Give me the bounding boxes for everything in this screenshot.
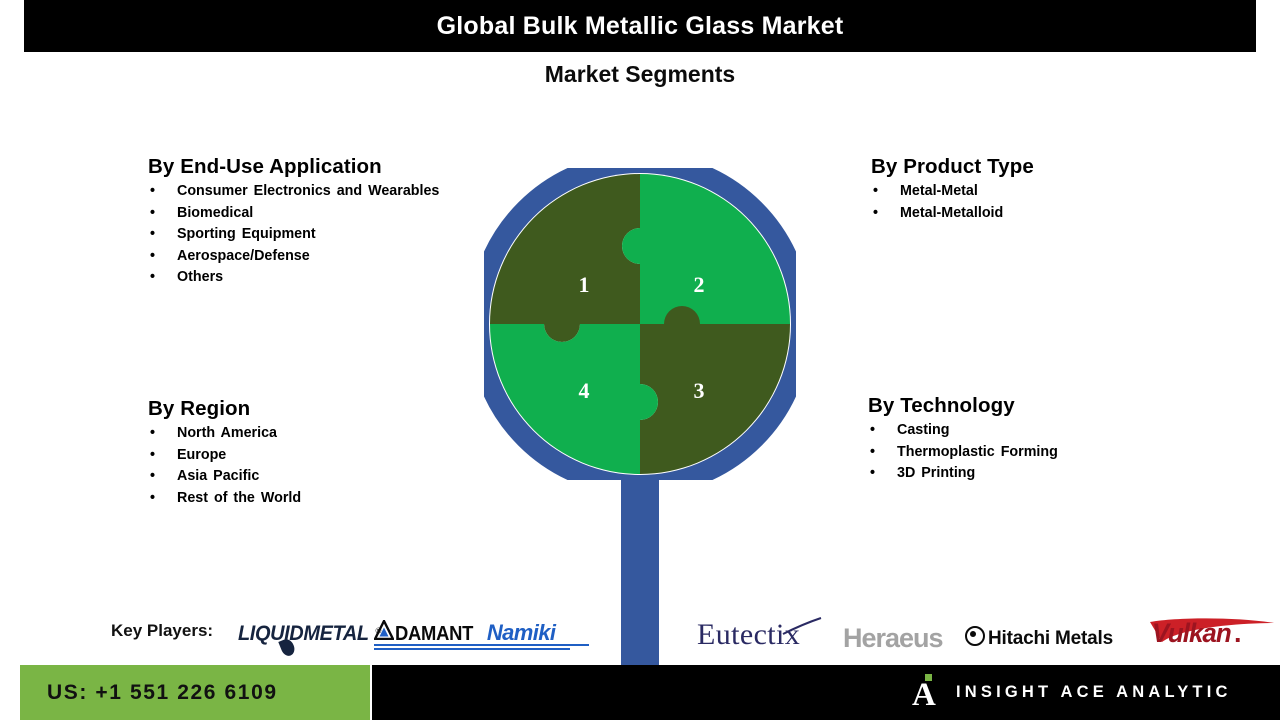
list-item: •Europe [148,445,478,467]
bullet-icon: • [150,246,155,268]
hitachi-mark-icon [965,626,985,646]
segment-by-technology: By Technology •Casting •Thermoplastic Fo… [868,394,1208,485]
bullet-icon: • [873,181,878,203]
segment-heading: By End-Use Application [148,155,478,179]
list-item-label: Consumer Electronics and Wearables [177,183,439,199]
list-item: •Thermoplastic Forming [868,442,1208,464]
brand-letter: A [912,682,938,710]
magnifying-glass-puzzle-graphic: 1 2 3 4 [484,168,796,668]
bullet-icon: • [150,181,155,203]
list-item-label: Biomedical [177,205,253,221]
logo-underline-2 [374,648,570,650]
header-bar: Global Bulk Metallic Glass Market [24,0,1256,52]
list-item: •Metal-Metal [871,181,1201,203]
list-item-label: Sporting Equipment [177,226,316,242]
bullet-icon: • [873,203,878,225]
magnifier-lens: 1 2 3 4 [484,168,796,480]
list-item: •Consumer Electronics and Wearables [148,181,478,203]
bullet-icon: • [150,267,155,289]
logo-heraeus-text: Heraeus [843,623,943,653]
list-item-label: Thermoplastic Forming [897,444,1058,460]
logo-liquidmetal: LIQUIDMETAL® [238,622,381,646]
key-players-row: Key Players: LIQUIDMETAL® DAMANT Namiki … [0,604,1280,662]
segment-by-end-use-application: By End-Use Application •Consumer Electro… [148,155,478,289]
list-item: •Metal-Metalloid [871,203,1201,225]
logo-adamant-namiki: DAMANT Namiki [374,620,555,646]
logo-vulkan: Vulkan. [1152,618,1242,649]
bullet-icon: • [870,442,875,464]
list-item: •Biomedical [148,203,478,225]
swoosh-icon [781,617,823,637]
key-players-label: Key Players: [111,621,213,641]
bullet-icon: • [150,203,155,225]
bullet-icon: • [870,463,875,485]
bullet-icon: • [150,488,155,510]
list-item-label: Metal-Metal [900,183,978,199]
list-item: •Aerospace/Defense [148,246,478,268]
segment-by-product-type: By Product Type •Metal-Metal •Metal-Meta… [871,155,1201,224]
list-item-label: Metal-Metalloid [900,205,1003,221]
bullet-icon: • [150,466,155,488]
list-item-label: Asia Pacific [177,468,259,484]
brand-name: INSIGHT ACE ANALYTIC [956,683,1232,702]
footer-brand-bar: A INSIGHT ACE ANALYTIC [372,665,1280,720]
bullet-icon: • [150,423,155,445]
puzzle-piece-3-number: 3 [694,378,705,403]
logo-heraeus: Heraeus [843,623,943,654]
logo-liquidmetal-text: LIQUIDMETAL [238,622,369,646]
list-item: •Rest of the World [148,488,478,510]
puzzle-piece-2-number: 2 [694,272,705,297]
list-item-label: North America [177,425,277,441]
segment-heading: By Region [148,397,478,421]
list-item: •North America [148,423,478,445]
list-item-label: Europe [177,447,226,463]
list-item: •Asia Pacific [148,466,478,488]
logo-vulkan-text: Vulkan [1152,618,1231,649]
list-item-label: Rest of the World [177,490,301,506]
list-item: •Others [148,267,478,289]
logo-adamant-text: DAMANT [395,623,473,646]
segment-list: •Casting •Thermoplastic Forming •3D Prin… [868,420,1208,485]
footer-phone-bar[interactable]: US: +1 551 226 6109 [20,665,370,720]
bullet-icon: • [870,420,875,442]
segment-heading: By Product Type [871,155,1201,179]
logo-hitachi-text: Hitachi Metals [988,628,1113,649]
list-item-label: Aerospace/Defense [177,248,310,264]
list-item: •Casting [868,420,1208,442]
segment-heading: By Technology [868,394,1208,418]
list-item-label: Casting [897,422,949,438]
logo-namiki-text: Namiki [487,620,556,646]
segment-list: •Consumer Electronics and Wearables •Bio… [148,181,478,289]
footer-phone-text: US: +1 551 226 6109 [47,681,278,705]
list-item: •Sporting Equipment [148,224,478,246]
triangle-a-icon [374,620,394,640]
bullet-icon: • [150,224,155,246]
bullet-icon: • [150,445,155,467]
segment-list: •Metal-Metal •Metal-Metalloid [871,181,1201,224]
logo-hitachi-metals: Hitachi Metals [965,626,1113,650]
logo-underline-1 [374,644,589,646]
segment-list: •North America •Europe •Asia Pacific •Re… [148,423,478,509]
logo-eutectix: Eutectix [697,618,800,652]
segment-by-region: By Region •North America •Europe •Asia P… [148,397,478,509]
page-title: Global Bulk Metallic Glass Market [437,12,844,41]
list-item-label: Others [177,269,223,285]
puzzle-piece-4-number: 4 [579,378,590,403]
insightace-logo-icon: A [912,676,938,710]
list-item: •3D Printing [868,463,1208,485]
subtitle: Market Segments [0,61,1280,88]
infographic-canvas: Global Bulk Metallic Glass Market Market… [0,0,1280,720]
list-item-label: 3D Printing [897,465,975,481]
puzzle-piece-1-number: 1 [579,272,590,297]
